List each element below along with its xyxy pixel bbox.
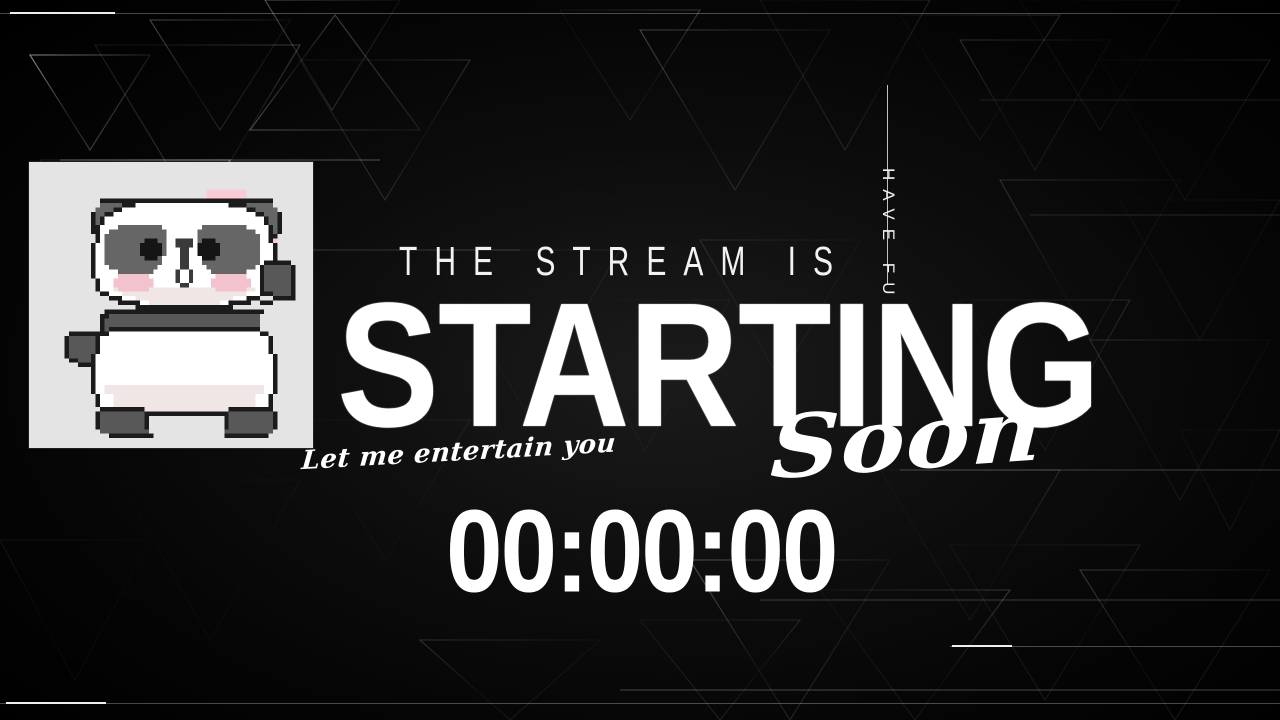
bottom-divider-line <box>0 703 1280 704</box>
stream-starting-soon-overlay: HAVE FUN THE STREAM IS STARTING Soon Let… <box>0 0 1280 720</box>
top-divider-line <box>0 13 1280 14</box>
right-divider-accent <box>952 645 1012 647</box>
avatar <box>29 162 313 448</box>
script-soon-text: Soon <box>769 387 1044 492</box>
countdown-timer: 00:00:00 <box>446 494 836 611</box>
pixel-panda-icon <box>29 162 313 448</box>
bottom-divider-accent <box>6 702 106 704</box>
top-divider-accent <box>10 12 115 14</box>
